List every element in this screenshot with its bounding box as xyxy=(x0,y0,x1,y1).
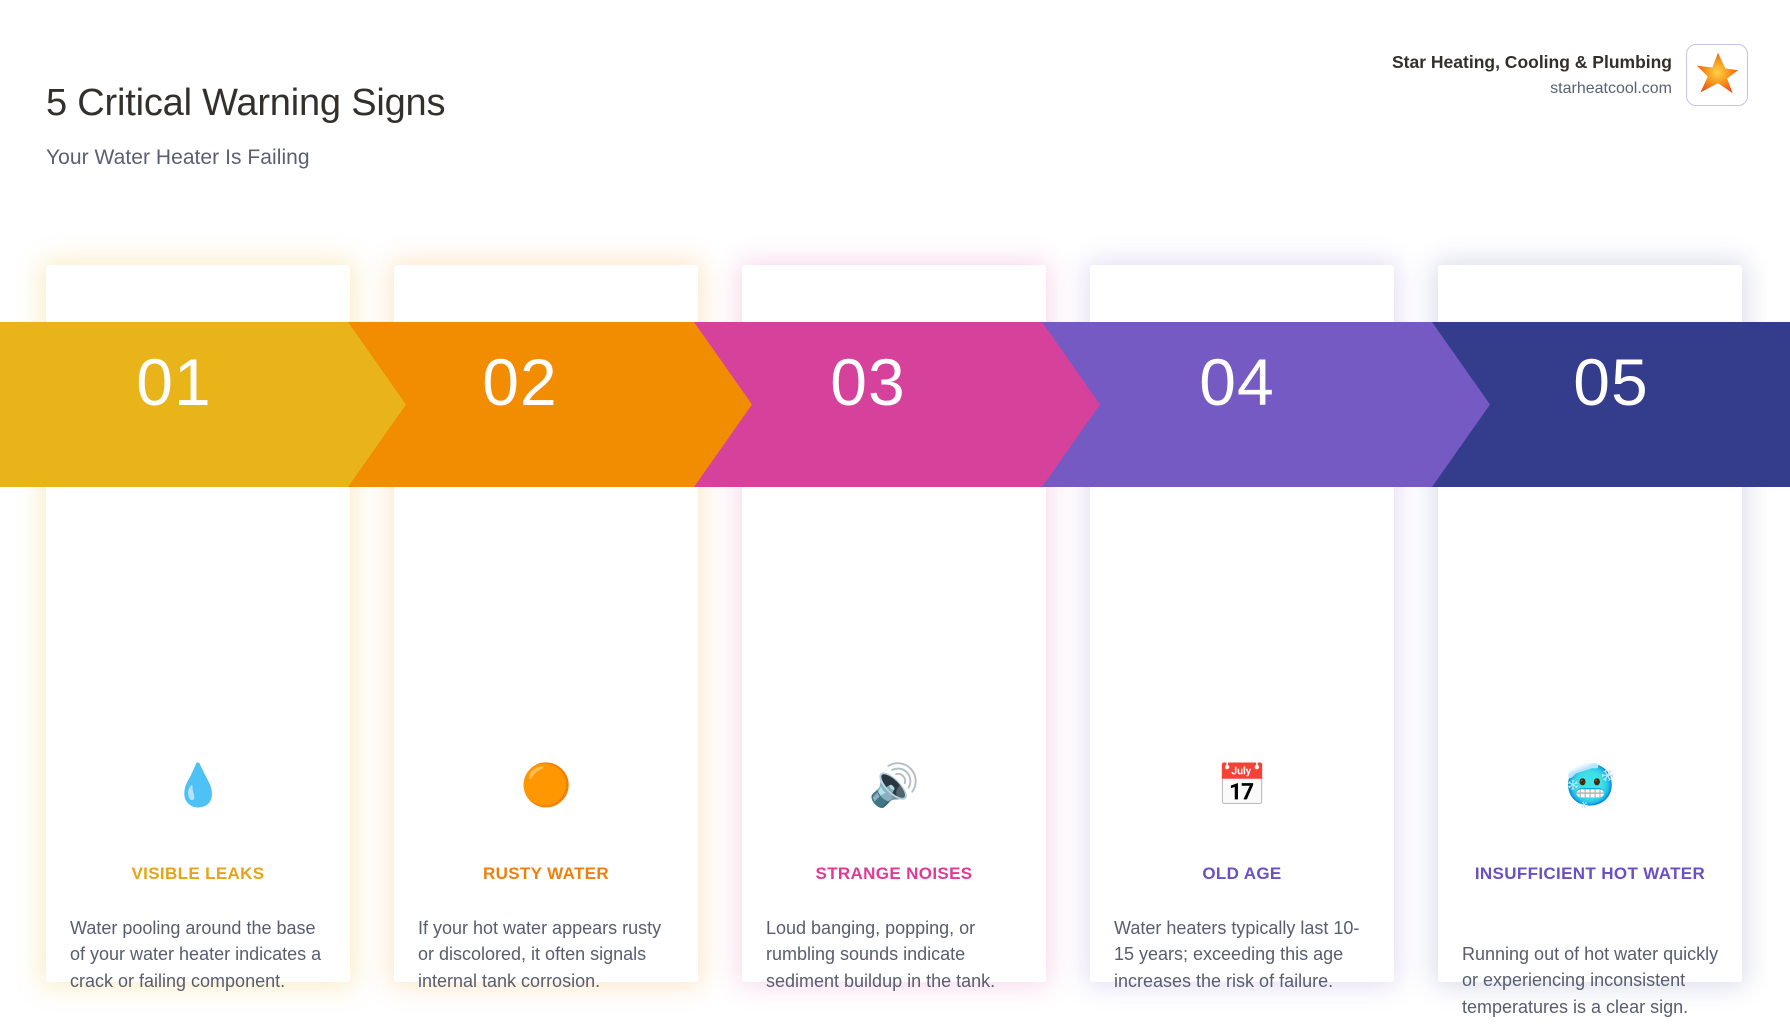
step-card-01[interactable]: 💧 VISIBLE LEAKS Water pooling around the… xyxy=(46,265,350,982)
infographic-page: 5 Critical Warning Signs Your Water Heat… xyxy=(0,0,1790,1024)
card-notch xyxy=(149,717,247,766)
calendar-icon: 📅 xyxy=(1090,765,1394,806)
step-description-05: Running out of hot water quickly or expe… xyxy=(1462,941,1720,1020)
step-title-04: OLD AGE xyxy=(1112,861,1372,887)
step-card-03[interactable]: 🔊 STRANGE NOISES Loud banging, popping, … xyxy=(742,265,1046,982)
card-notch xyxy=(497,717,595,766)
steps-container: 💧 VISIBLE LEAKS Water pooling around the… xyxy=(0,0,1790,1024)
step-card-04[interactable]: 📅 OLD AGE Water heaters typically last 1… xyxy=(1090,265,1394,982)
step-card-02[interactable]: 🟠 RUSTY WATER If your hot water appears … xyxy=(394,265,698,982)
step-description-01: Water pooling around the base of your wa… xyxy=(70,915,328,994)
step-title-03: STRANGE NOISES xyxy=(764,861,1024,887)
loud-speaker-icon: 🔊 xyxy=(742,765,1046,806)
water-droplet-icon: 💧 xyxy=(46,765,350,806)
step-title-01: VISIBLE LEAKS xyxy=(68,861,328,887)
cold-face-icon: 🥶 xyxy=(1438,765,1742,806)
step-description-04: Water heaters typically last 10-15 years… xyxy=(1114,915,1372,994)
step-card-05[interactable]: 🥶 INSUFFICIENT HOT WATER Running out of … xyxy=(1438,265,1742,982)
step-description-03: Loud banging, popping, or rumbling sound… xyxy=(766,915,1024,994)
step-title-05: INSUFFICIENT HOT WATER xyxy=(1460,861,1720,887)
step-title-02: RUSTY WATER xyxy=(416,861,676,887)
card-notch xyxy=(1193,717,1291,766)
orange-circle-icon: 🟠 xyxy=(394,765,698,806)
card-notch xyxy=(845,717,943,766)
step-description-02: If your hot water appears rusty or disco… xyxy=(418,915,676,994)
card-notch xyxy=(1541,717,1639,766)
